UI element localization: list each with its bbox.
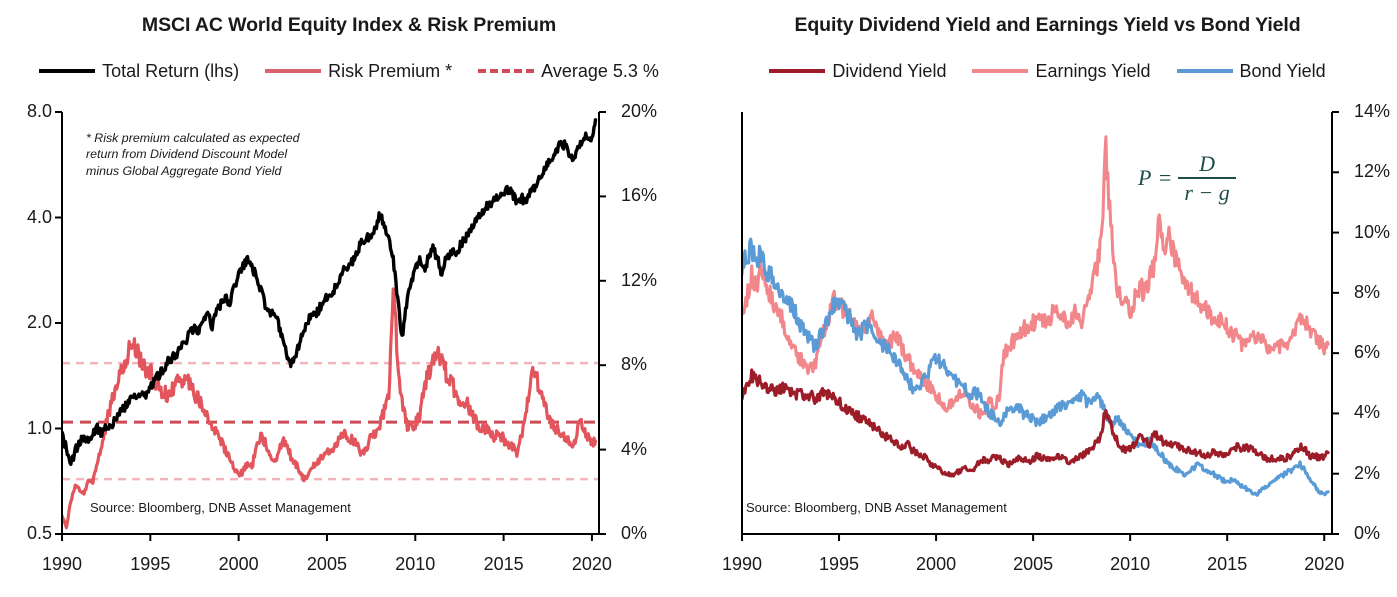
left-y-right-tick-20: 20% xyxy=(621,101,657,122)
left-x-tick-2010: 2010 xyxy=(383,554,447,575)
right-axis-frame xyxy=(730,104,1350,554)
legend-item-average[interactable]: Average 5.3 % xyxy=(478,62,659,80)
right-y-tick-4: 4% xyxy=(1354,402,1380,423)
right-y-tick-8: 8% xyxy=(1354,282,1380,303)
left-y-right-tick-0: 0% xyxy=(621,523,647,544)
legend-swatch-dividend-yield xyxy=(769,69,825,73)
legend-swatch-bond-yield xyxy=(1177,69,1233,73)
right-chart-title: Equity Dividend Yield and Earnings Yield… xyxy=(698,14,1397,37)
left-y-right-tick-16: 16% xyxy=(621,185,657,206)
legend-item-earnings-yield[interactable]: Earnings Yield xyxy=(972,62,1150,80)
legend-label-dividend-yield: Dividend Yield xyxy=(832,62,946,80)
left-y-right-tick-12: 12% xyxy=(621,270,657,291)
right-x-tick-2020: 2020 xyxy=(1292,554,1356,575)
left-y-right-tick-8: 8% xyxy=(621,354,647,375)
right-x-tick-1990: 1990 xyxy=(710,554,774,575)
legend-label-risk-premium: Risk Premium * xyxy=(328,62,452,80)
left-y-tick-8-0: 8.0 xyxy=(4,101,52,122)
right-x-tick-2015: 2015 xyxy=(1195,554,1259,575)
right-chart-source: Source: Bloomberg, DNB Asset Management xyxy=(746,500,1007,515)
formula-equals: = xyxy=(1157,165,1172,191)
left-x-tick-2005: 2005 xyxy=(295,554,359,575)
left-y-tick-0-5: 0.5 xyxy=(4,523,52,544)
left-y-right-tick-4: 4% xyxy=(621,439,647,460)
legend-swatch-risk-premium xyxy=(265,69,321,73)
legend-label-earnings-yield: Earnings Yield xyxy=(1035,62,1150,80)
right-y-tick-0: 0% xyxy=(1354,523,1380,544)
formula-numerator: D xyxy=(1193,152,1221,175)
legend-item-total-return[interactable]: Total Return (lhs) xyxy=(39,62,239,80)
legend-item-bond-yield[interactable]: Bond Yield xyxy=(1177,62,1326,80)
right-x-tick-2000: 2000 xyxy=(904,554,968,575)
right-chart-legend: Dividend Yield Earnings Yield Bond Yield xyxy=(698,62,1397,80)
right-y-tick-2: 2% xyxy=(1354,463,1380,484)
left-chart-panel: MSCI AC World Equity Index & Risk Premiu… xyxy=(0,0,698,597)
right-y-tick-6: 6% xyxy=(1354,342,1380,363)
right-y-tick-12: 12% xyxy=(1354,161,1390,182)
left-chart-legend: Total Return (lhs) Risk Premium * Averag… xyxy=(0,62,698,80)
legend-swatch-earnings-yield xyxy=(972,69,1028,73)
left-y-tick-4-0: 4.0 xyxy=(4,207,52,228)
legend-item-dividend-yield[interactable]: Dividend Yield xyxy=(769,62,946,80)
left-x-tick-1995: 1995 xyxy=(118,554,182,575)
legend-label-total-return: Total Return (lhs) xyxy=(102,62,239,80)
left-x-tick-2020: 2020 xyxy=(560,554,624,575)
right-chart-panel: Equity Dividend Yield and Earnings Yield… xyxy=(698,0,1397,597)
chart-page: MSCI AC World Equity Index & Risk Premiu… xyxy=(0,0,1397,597)
left-chart-title: MSCI AC World Equity Index & Risk Premiu… xyxy=(0,14,698,37)
right-y-tick-10: 10% xyxy=(1354,222,1390,243)
legend-swatch-total-return xyxy=(39,69,95,73)
formula-fraction: D r − g xyxy=(1178,152,1235,204)
right-x-tick-1995: 1995 xyxy=(807,554,871,575)
left-chart-source: Source: Bloomberg, DNB Asset Management xyxy=(90,500,351,515)
formula-denominator: r − g xyxy=(1178,181,1235,204)
left-chart-footnote: * Risk premium calculated as expected re… xyxy=(86,130,301,179)
right-x-tick-2010: 2010 xyxy=(1098,554,1162,575)
left-x-tick-1990: 1990 xyxy=(30,554,94,575)
legend-swatch-average xyxy=(478,69,534,73)
legend-label-bond-yield: Bond Yield xyxy=(1240,62,1326,80)
right-y-tick-14: 14% xyxy=(1354,101,1390,122)
left-x-tick-2015: 2015 xyxy=(472,554,536,575)
left-y-tick-2-0: 2.0 xyxy=(4,312,52,333)
left-y-tick-1-0: 1.0 xyxy=(4,418,52,439)
right-x-tick-2005: 2005 xyxy=(1001,554,1065,575)
formula-fraction-bar xyxy=(1178,177,1235,179)
legend-item-risk-premium[interactable]: Risk Premium * xyxy=(265,62,452,80)
left-x-tick-2000: 2000 xyxy=(207,554,271,575)
legend-label-average: Average 5.3 % xyxy=(541,62,659,80)
ddm-formula-annotation: P = D r − g xyxy=(1138,152,1236,204)
formula-lhs: P xyxy=(1138,165,1151,191)
